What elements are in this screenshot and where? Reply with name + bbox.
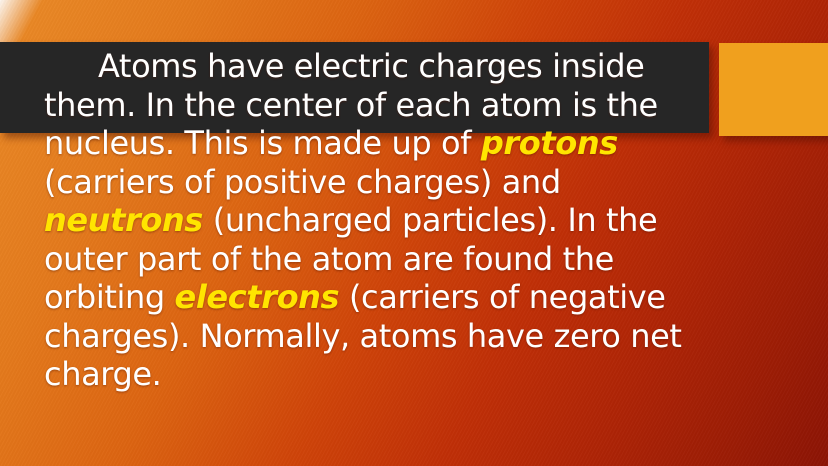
slide-body-text: Atoms have electric charges inside them.… <box>44 47 716 394</box>
text-run-positive: (carriers of positive charges) and <box>44 163 561 201</box>
emphasis-protons: protons <box>481 124 618 162</box>
emphasis-electrons: electrons <box>175 278 340 316</box>
orange-accent-block <box>719 43 828 136</box>
slide-canvas: Atoms have electric charges inside them.… <box>0 0 828 466</box>
emphasis-neutrons: neutrons <box>44 201 203 239</box>
